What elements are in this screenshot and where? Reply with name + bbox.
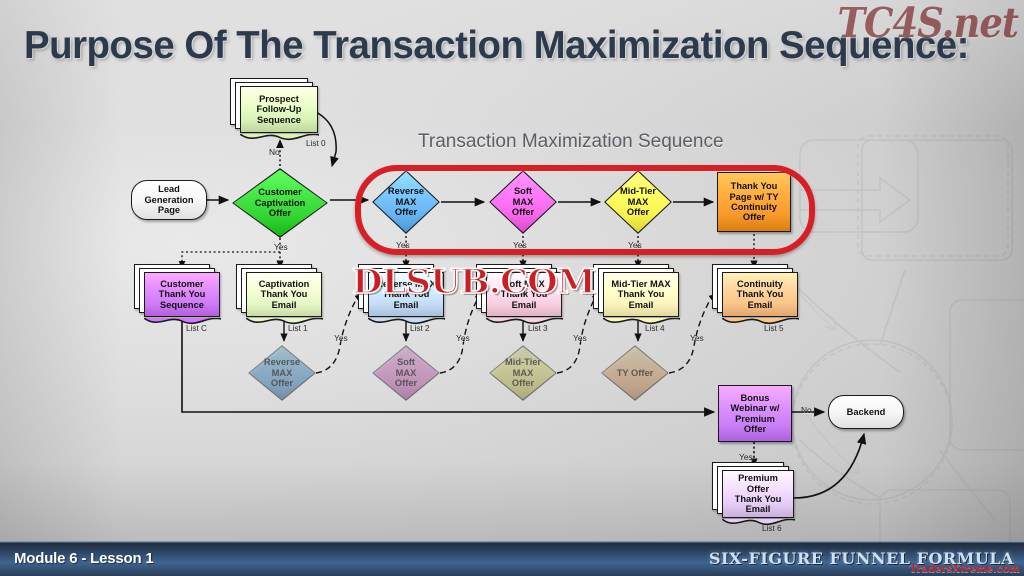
node-premium-offer-thank-you-email[interactable]: Premium Offer Thank You Email — [722, 470, 794, 518]
node-label: Captivation Thank You Email — [247, 273, 321, 316]
slide-canvas: Purpose Of The Transaction Maximization … — [0, 0, 1024, 576]
node-label: Thank You Page w/ TY Continuity Offer — [718, 173, 790, 231]
node-backend[interactable]: Backend — [828, 395, 904, 429]
document-wave — [722, 516, 795, 526]
list-label-list-1: List 1 — [288, 324, 308, 333]
edge-label-no-bonus: No — [801, 405, 812, 415]
edge-label-yes-bonus: Yes — [739, 452, 753, 462]
node-reverse-max-offer[interactable]: Reverse MAX Offer — [372, 170, 440, 234]
node-lead-generation-page[interactable]: Lead Generation Page — [131, 180, 207, 220]
node-bonus-webinar-premium-offer[interactable]: Bonus Webinar w/ Premium Offer — [718, 385, 792, 442]
node-label: Reverse MAX Offer — [248, 345, 316, 401]
footer-bar: Module 6 - Lesson 1 SIX-FIGURE FUNNEL FO… — [0, 541, 1024, 576]
node-soft-max-offer-ghost[interactable]: Soft MAX Offer — [372, 345, 440, 401]
node-prospect-follow-up-sequence[interactable]: Prospect Follow-Up Sequence — [240, 86, 318, 133]
node-reverse-max-offer-ghost[interactable]: Reverse MAX Offer — [248, 345, 316, 401]
node-customer-thank-you-sequence[interactable]: Customer Thank You Sequence — [144, 272, 220, 317]
document-wave — [144, 315, 221, 325]
list-label-list-5: List 5 — [764, 324, 784, 333]
node-mid-tier-max-offer[interactable]: Mid-Tier MAX Offer — [604, 170, 672, 234]
document-front: Customer Thank You Sequence — [144, 272, 220, 317]
document-wave — [722, 315, 799, 325]
page-title: Purpose Of The Transaction Maximization … — [24, 24, 969, 68]
watermark-tc4s: TC4S.net — [837, 0, 1018, 47]
node-ty-offer-ghost[interactable]: TY Offer — [601, 345, 669, 401]
node-label: Mid-Tier MAX Offer — [604, 170, 672, 234]
edge-label-yes-midtier: Yes — [628, 240, 642, 250]
node-label: Bonus Webinar w/ Premium Offer — [719, 386, 791, 441]
node-label: Customer Captivation Offer — [232, 168, 328, 238]
list-label-list-c: List C — [186, 324, 207, 333]
node-label: Soft MAX Offer — [372, 345, 440, 401]
node-label: Mid-Tier MAX Offer — [489, 345, 557, 401]
watermark-tradersxtreme: TradersXtreme.com — [910, 564, 1021, 575]
list-label-list-6: List 6 — [762, 524, 782, 533]
edge-label-yes-soft: Yes — [513, 240, 527, 250]
document-front: Premium Offer Thank You Email — [722, 470, 794, 518]
document-front: Mid-Tier MAX Thank You Email — [603, 272, 679, 317]
node-label: Mid-Tier MAX Thank You Email — [604, 273, 678, 316]
node-continuity-thank-you-email[interactable]: Continuity Thank You Email — [722, 272, 798, 317]
document-front: Captivation Thank You Email — [246, 272, 322, 317]
document-wave — [246, 315, 323, 325]
node-label: Backend — [829, 396, 903, 428]
footer-module-label: Module 6 - Lesson 1 — [14, 550, 154, 567]
node-thank-you-page-ty-continuity-offer[interactable]: Thank You Page w/ TY Continuity Offer — [717, 172, 791, 232]
node-label: Continuity Thank You Email — [723, 273, 797, 316]
edge-label-yes-soft-ghost: Yes — [456, 333, 470, 343]
node-label: Soft MAX Offer — [489, 170, 557, 234]
node-label: Prospect Follow-Up Sequence — [241, 87, 317, 132]
node-customer-captivation-offer[interactable]: Customer Captivation Offer — [232, 168, 328, 238]
list-label-list-3: List 3 — [528, 324, 548, 333]
node-mid-tier-max-thank-you-email[interactable]: Mid-Tier MAX Thank You Email — [603, 272, 679, 317]
list-label-list-0: List 0 — [306, 139, 326, 148]
edge-label-yes-reverse: Yes — [396, 240, 410, 250]
node-label: Lead Generation Page — [132, 181, 206, 219]
node-captivation-thank-you-email[interactable]: Captivation Thank You Email — [246, 272, 322, 317]
node-label: Premium Offer Thank You Email — [723, 471, 793, 517]
node-label: TY Offer — [601, 345, 669, 401]
edge-label-yes-ty-ghost: Yes — [690, 333, 704, 343]
document-wave — [486, 315, 563, 325]
document-front: Continuity Thank You Email — [722, 272, 798, 317]
edge-label-yes-midtier-ghost: Yes — [573, 333, 587, 343]
edge-label-yes-captivation: Yes — [274, 242, 288, 252]
document-wave — [603, 315, 680, 325]
document-front: Prospect Follow-Up Sequence — [240, 86, 318, 133]
node-mid-tier-max-offer-ghost[interactable]: Mid-Tier MAX Offer — [489, 345, 557, 401]
node-label: Reverse MAX Offer — [372, 170, 440, 234]
node-label: Customer Thank You Sequence — [145, 273, 219, 316]
node-soft-max-offer[interactable]: Soft MAX Offer — [489, 170, 557, 234]
list-label-list-4: List 4 — [645, 324, 665, 333]
list-label-list-2: List 2 — [410, 324, 430, 333]
edge-label-yes-reverse-ghost: Yes — [334, 333, 348, 343]
edge-label-no-prospect: No — [269, 147, 280, 157]
sequence-caption: Transaction Maximization Sequence — [418, 131, 724, 153]
document-wave — [368, 315, 445, 325]
watermark-dlsub: DLSUB.COM — [352, 262, 595, 302]
